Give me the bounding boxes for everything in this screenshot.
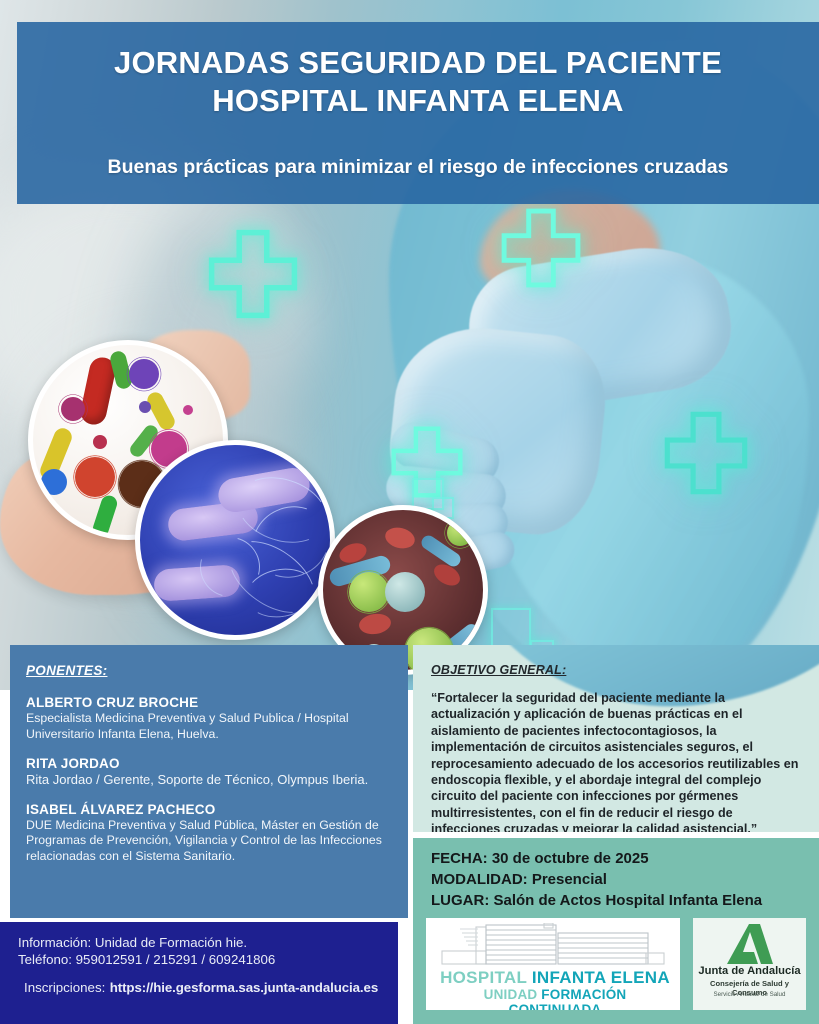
junta-andalucia-logo: Junta de Andalucía Consejería de Salud y… xyxy=(693,918,806,1010)
hospital-logo: HOSPITAL INFANTA ELENA UNIDAD FORMACIÓN … xyxy=(426,918,680,1010)
contact-info: Información: Unidad de Formación hie. xyxy=(18,934,384,951)
page-title: JORNADAS SEGURIDAD DEL PACIENTE HOSPITAL… xyxy=(17,22,819,120)
neon-square-icon xyxy=(491,608,531,648)
speaker-role: Especialista Medicina Preventiva y Salud… xyxy=(26,711,386,742)
speaker-role: DUE Medicina Preventiva y Salud Pública,… xyxy=(26,818,386,865)
junta-name: Junta de Andalucía xyxy=(693,965,806,977)
objective-heading: OBJETIVO GENERAL: xyxy=(431,663,803,677)
objective-text: “Fortalecer la seguridad del paciente me… xyxy=(431,690,803,832)
hospital-logo-line2: UNIDAD FORMACIÓN CONTINUADA xyxy=(438,987,672,1010)
event-date: FECHA: 30 de octubre de 2025 xyxy=(431,848,819,869)
contact-panel: Información: Unidad de Formación hie. Te… xyxy=(0,922,398,1024)
registration-label: Inscripciones: xyxy=(24,980,105,995)
speakers-panel: PONENTES: ALBERTO CRUZ BROCHE Especialis… xyxy=(10,645,408,918)
event-modality: MODALIDAD: Presencial xyxy=(431,869,819,890)
title-line-2: HOSPITAL INFANTA ELENA xyxy=(17,82,819,120)
speaker-name: ISABEL ÁLVAREZ PACHECO xyxy=(26,802,386,817)
speaker-entry: ISABEL ÁLVAREZ PACHECO DUE Medicina Prev… xyxy=(26,802,386,865)
medical-cross-icon xyxy=(663,410,749,496)
title-line-1: JORNADAS SEGURIDAD DEL PACIENTE xyxy=(17,44,819,82)
junta-servicio: Servicio Andaluz de Salud xyxy=(693,991,806,998)
speaker-role: Rita Jordao / Gerente, Soporte de Técnic… xyxy=(26,772,386,788)
poster-root: JORNADAS SEGURIDAD DEL PACIENTE HOSPITAL… xyxy=(0,0,819,1024)
registration-row: Inscripciones: https://hie.gesforma.sas.… xyxy=(18,979,384,997)
contact-phone: Teléfono: 959012591 / 215291 / 609241806 xyxy=(18,951,384,968)
andalucia-a-icon xyxy=(727,924,773,964)
page-subtitle: Buenas prácticas para minimizar el riesg… xyxy=(17,155,819,179)
registration-url[interactable]: https://hie.gesforma.sas.junta-andalucia… xyxy=(110,980,378,995)
blue-bacilli-photo-bubble xyxy=(135,440,335,640)
hospital-building-icon xyxy=(440,923,666,968)
speaker-entry: ALBERTO CRUZ BROCHE Especialista Medicin… xyxy=(26,695,386,742)
medical-cross-icon xyxy=(500,207,582,289)
medical-cross-icon xyxy=(207,228,299,320)
hospital-logo-line1: HOSPITAL INFANTA ELENA xyxy=(438,968,672,987)
hospital-logo-word-hospital: HOSPITAL xyxy=(440,968,532,987)
speaker-name: RITA JORDAO xyxy=(26,756,386,771)
speaker-entry: RITA JORDAO Rita Jordao / Gerente, Sopor… xyxy=(26,756,386,788)
speakers-heading: PONENTES: xyxy=(26,663,386,678)
hospital-logo-word-infanta-elena: INFANTA ELENA xyxy=(532,968,670,987)
objective-panel: OBJETIVO GENERAL: “Fortalecer la segurid… xyxy=(413,645,819,832)
header-banner: JORNADAS SEGURIDAD DEL PACIENTE HOSPITAL… xyxy=(17,22,819,204)
hospital-logo-word-unidad: UNIDAD xyxy=(484,987,542,1002)
event-location: LUGAR: Salón de Actos Hospital Infanta E… xyxy=(431,890,819,911)
speaker-name: ALBERTO CRUZ BROCHE xyxy=(26,695,386,710)
